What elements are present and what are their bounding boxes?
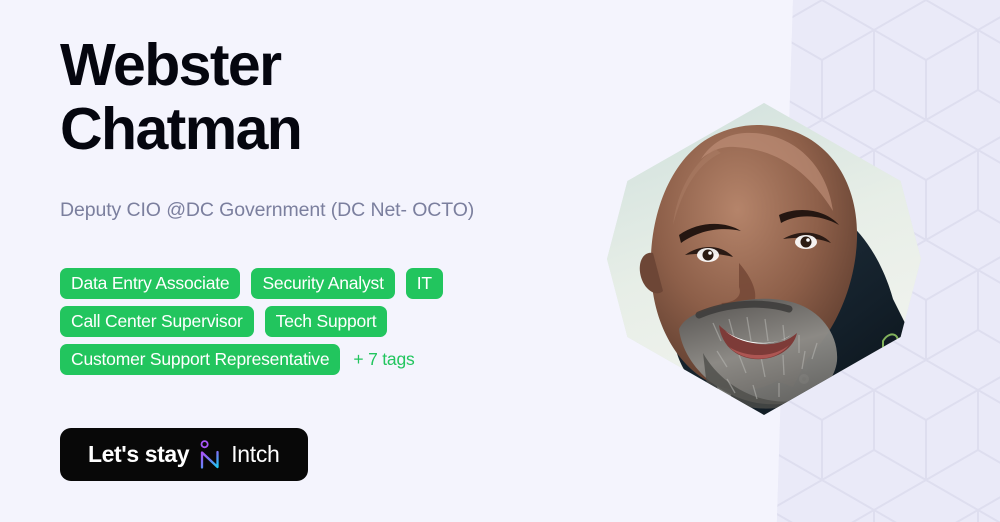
profile-last-name: Chatman [60, 96, 301, 162]
profile-first-name: Webster [60, 32, 281, 98]
profile-card: Webster Chatman Deputy CIO @DC Governmen… [0, 0, 1000, 522]
tag-item[interactable]: Data Entry Associate [60, 268, 240, 299]
intch-n-logo-icon [198, 440, 222, 470]
cta-label: Let's stay [88, 441, 189, 468]
page-title: Webster Chatman [60, 33, 620, 161]
more-tags-link[interactable]: + 7 tags [351, 344, 414, 375]
tag-item[interactable]: Security Analyst [251, 268, 394, 299]
profile-content: Webster Chatman Deputy CIO @DC Governmen… [60, 0, 620, 522]
profile-headline: Deputy CIO @DC Government (DC Net- OCTO) [60, 196, 620, 224]
tag-item[interactable]: Tech Support [265, 306, 388, 337]
tag-item[interactable]: IT [406, 268, 443, 299]
lets-stay-intch-button[interactable]: Let's stay Intch [60, 428, 308, 481]
tag-item[interactable]: Call Center Supervisor [60, 306, 254, 337]
cta-brand-name: Intch [231, 441, 279, 468]
tag-item[interactable]: Customer Support Representative [60, 344, 340, 375]
tag-list: Data Entry Associate Security Analyst IT… [60, 268, 580, 375]
